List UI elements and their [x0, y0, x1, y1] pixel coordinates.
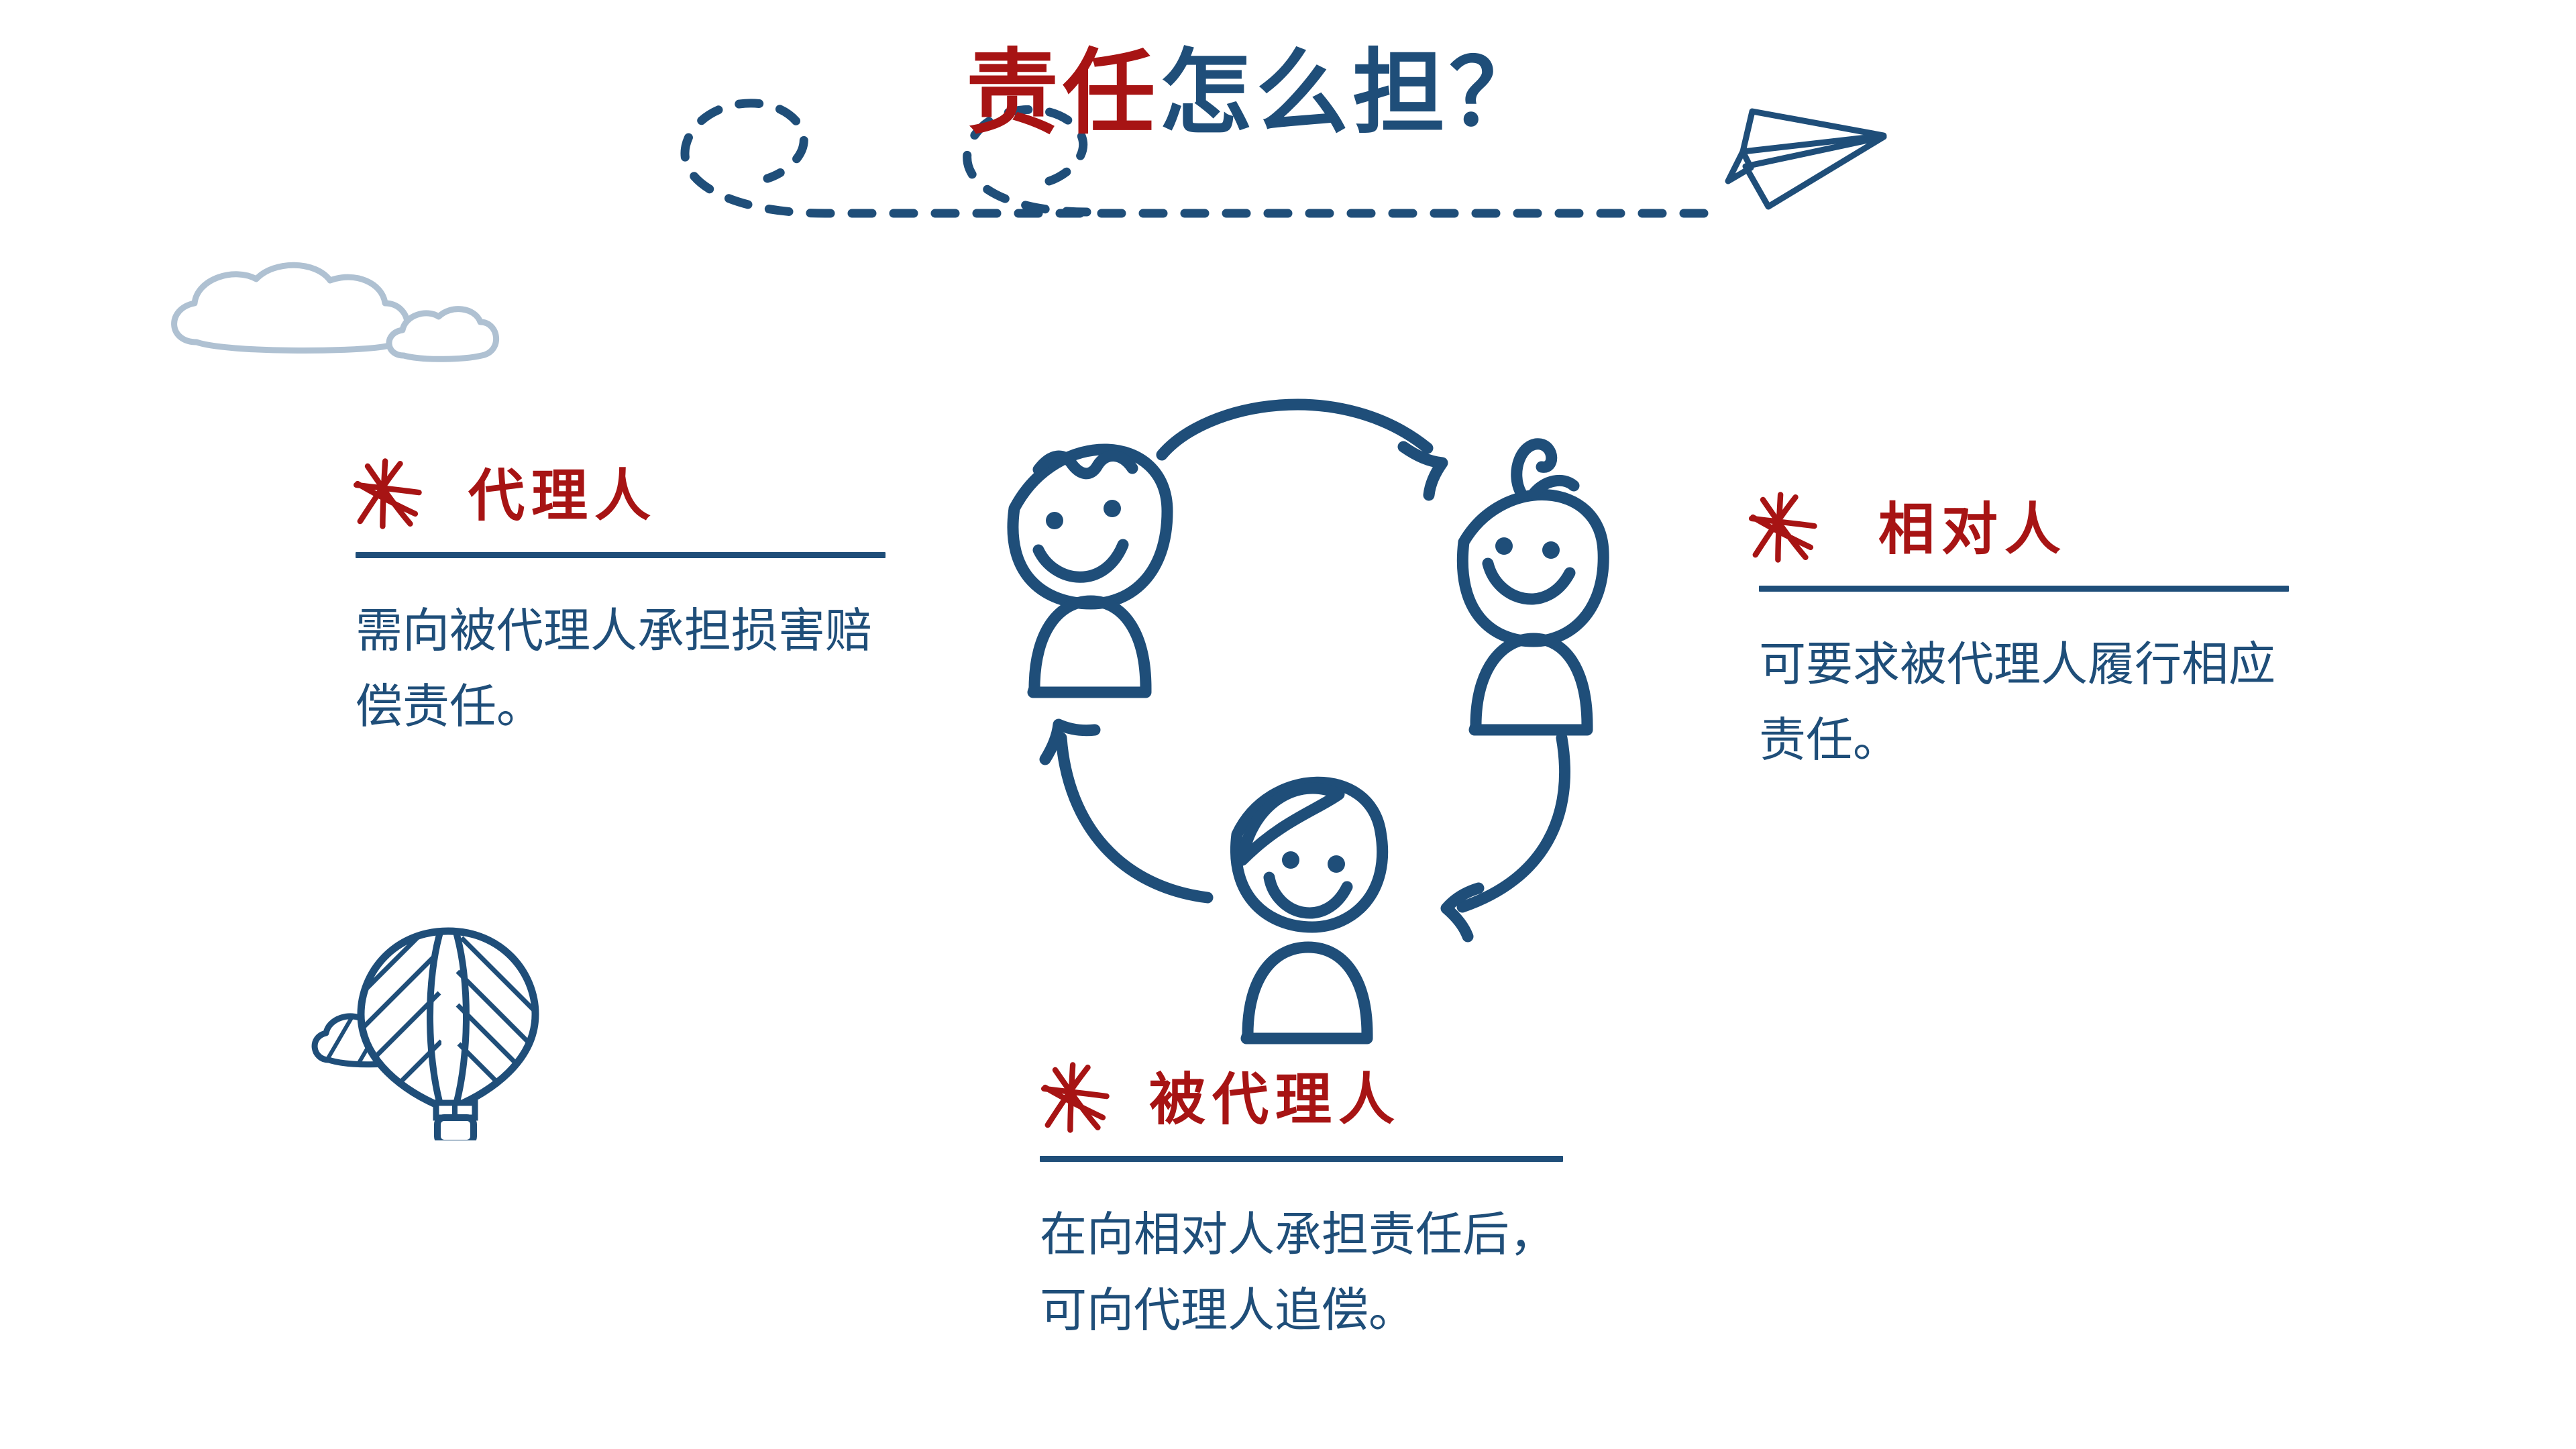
block-heading-counterparty: 相对人 — [1878, 501, 2068, 557]
arrow-counterparty-to-principal — [1446, 738, 1565, 936]
arrow-principal-to-agent — [1045, 724, 1207, 898]
star-icon — [349, 456, 424, 535]
person-zigzag-hair-icon — [1013, 449, 1167, 692]
info-block-principal: 被代理人 在向相对人承担责任后，可向代理人追偿。 — [1036, 1060, 1593, 1349]
block-heading-agent: 代理人 — [468, 468, 657, 524]
block-divider-agent — [356, 552, 885, 558]
block-head-principal: 被代理人 — [1036, 1060, 1593, 1138]
page-title: 责任 怎么担？ — [966, 47, 1704, 181]
block-body-agent: 需向被代理人承担损害赔偿责任。 — [349, 593, 892, 745]
person-curl-hair-icon — [1462, 444, 1603, 730]
block-divider-counterparty — [1759, 586, 2289, 592]
block-head-agent: 代理人 — [349, 456, 899, 535]
star-icon — [1036, 1060, 1112, 1138]
star-icon — [1744, 490, 1819, 568]
block-body-principal: 在向相对人承担责任后，可向代理人追偿。 — [1036, 1197, 1576, 1349]
hot-air-balloon-icon — [288, 919, 543, 1140]
title-emphasis: 责任 — [966, 47, 1159, 140]
info-block-counterparty: 相对人 可要求被代理人履行相应责任。 — [1744, 490, 2308, 779]
block-heading-principal: 被代理人 — [1149, 1071, 1401, 1128]
paper-plane-icon — [1704, 87, 1905, 235]
clouds-icon — [154, 241, 517, 396]
info-block-agent: 代理人 需向被代理人承担损害赔偿责任。 — [349, 456, 899, 745]
responsibility-cycle-diagram — [966, 362, 1657, 1053]
slide-canvas: 责任 怎么担？ 代理人 需向被代理人承担损害赔偿责任。 相对人 可要求被代理人履 — [0, 0, 2576, 1449]
title-rest: 怎么担？ — [1159, 47, 1546, 140]
arrow-agent-to-counterparty — [1162, 405, 1442, 495]
block-head-counterparty: 相对人 — [1744, 490, 2308, 568]
block-body-counterparty: 可要求被代理人履行相应责任。 — [1744, 627, 2302, 779]
person-side-bangs-icon — [1236, 782, 1382, 1038]
block-divider-principal — [1040, 1156, 1563, 1162]
